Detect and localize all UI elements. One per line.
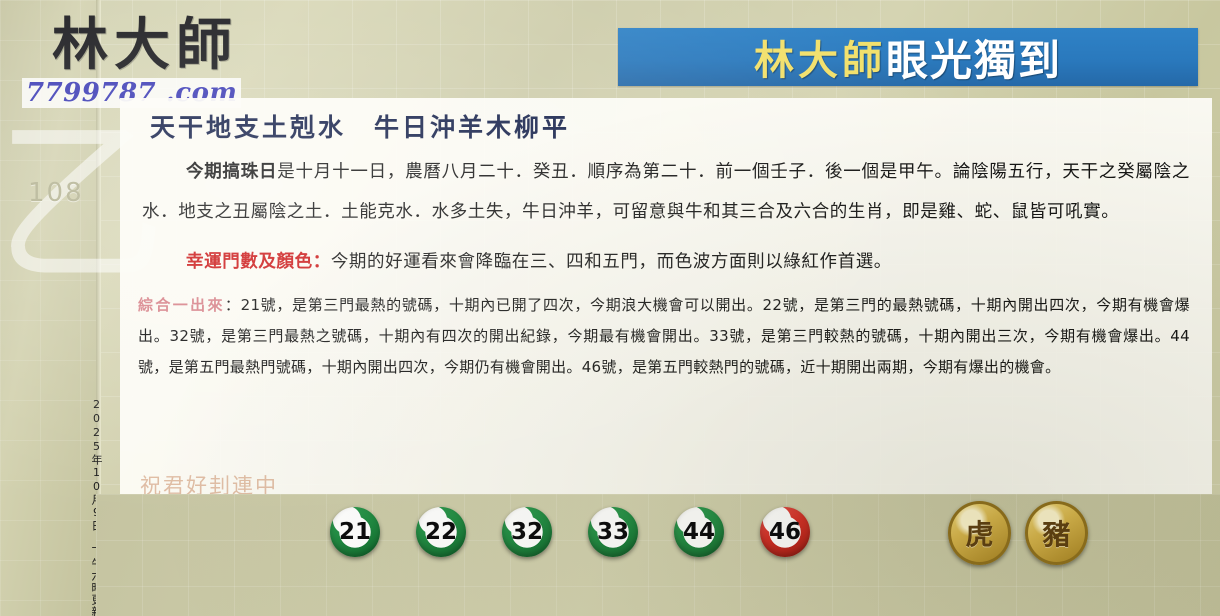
summary-paragraph: 綜合一出來：21號，是第三門最熱的號碼，十期內已開了四次，今期浪大機會可以開出。…	[138, 290, 1190, 383]
zodiac-label: 虎	[965, 513, 993, 553]
lottery-ball[interactable]: 46	[760, 507, 810, 557]
banner-slogan-text: 眼光獨到	[886, 27, 1062, 88]
article-sheet: 天干地支土剋水 牛日沖羊木柳平 今期搞珠日是十月十一日，農曆八月二十．癸丑．順序…	[120, 98, 1212, 494]
lottery-ball[interactable]: 21	[330, 507, 380, 557]
watermark-glyph: 乙	[0, 115, 136, 315]
site-logo: 林大師	[52, 16, 238, 74]
zodiac-row: 虎 豬	[948, 502, 1088, 564]
ball-number: 33	[597, 519, 629, 545]
lucky-label: 幸運門數及顏色：	[186, 252, 331, 272]
article-title: 天干地支土剋水 牛日沖羊木柳平	[150, 108, 1212, 144]
zodiac-coin[interactable]: 虎	[948, 501, 1011, 565]
ball-number: 32	[511, 519, 543, 545]
ball-number: 22	[425, 519, 457, 545]
summary-text: ：21號，是第三門最熱的號碼，十期內已開了四次，今期浪大機會可以開出。22號，是…	[138, 296, 1190, 376]
lottery-ball-row: 21 22 32 33 44 46	[330, 502, 810, 562]
article-paragraph-1: 今期搞珠日是十月十一日，農曆八月二十．癸丑．順序為第二十．前一個壬子．後一個是甲…	[142, 152, 1190, 232]
page-root: 乙 108 2025年10月9日 下午六時更新 林大師 7799787 .com…	[0, 0, 1220, 616]
lucky-text: 今期的好運看來會降臨在三、四和五門，而色波方面則以綠紅作首選。	[331, 252, 892, 272]
banner-brand-text: 林大師	[754, 28, 886, 86]
headline-banner: 林大師 眼光獨到	[618, 28, 1198, 86]
ball-number: 46	[769, 519, 801, 545]
ball-number: 44	[683, 519, 715, 545]
summary-label: 綜合一出來	[138, 296, 225, 314]
zodiac-label: 豬	[1042, 513, 1070, 553]
zodiac-coin[interactable]: 豬	[1025, 501, 1088, 565]
paragraph-1-body: 是十月十一日，農曆八月二十．癸丑．順序為第二十．前一個壬子．後一個是甲午。論陰陽…	[142, 162, 1190, 222]
lottery-ball[interactable]: 22	[416, 507, 466, 557]
lottery-ball[interactable]: 44	[674, 507, 724, 557]
lucky-paragraph: 幸運門數及顏色：今期的好運看來會降臨在三、四和五門，而色波方面則以綠紅作首選。	[142, 244, 1190, 280]
ball-number: 21	[339, 519, 371, 545]
lottery-ball[interactable]: 33	[588, 507, 638, 557]
paragraph-1-lead: 今期搞珠日	[186, 162, 277, 182]
lottery-ball[interactable]: 32	[502, 507, 552, 557]
issue-number: 108	[28, 178, 84, 208]
